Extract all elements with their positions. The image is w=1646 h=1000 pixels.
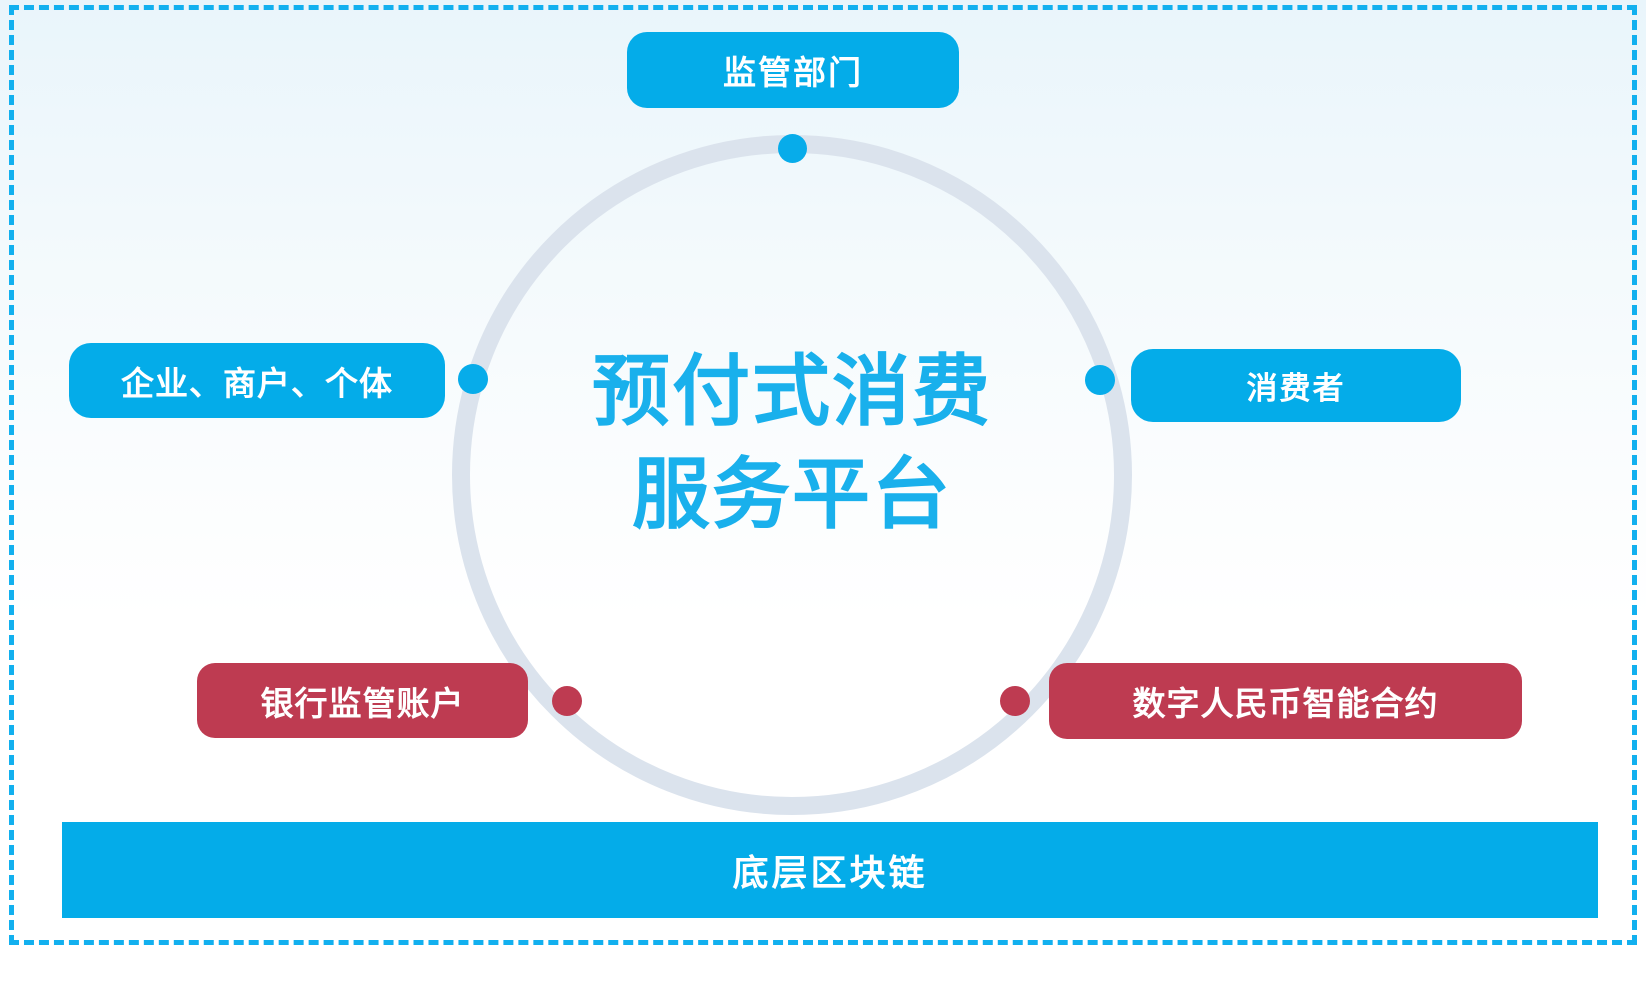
connector-dot-right	[1085, 365, 1115, 395]
connector-dot-left	[458, 364, 488, 394]
foundation-blockchain-bar[interactable]: 底层区块链	[62, 822, 1598, 918]
foundation-blockchain-label: 底层区块链	[732, 844, 927, 896]
node-digital-rmb-smart-contract[interactable]: 数字人民币智能合约	[1049, 663, 1522, 739]
node-consumer[interactable]: 消费者	[1131, 349, 1461, 422]
center-title-line-1: 预付式消费	[492, 340, 1092, 443]
node-regulatory-department[interactable]: 监管部门	[627, 32, 959, 108]
connector-dot-top	[778, 134, 807, 163]
connector-dot-bank-account	[552, 686, 582, 716]
node-enterprise-merchant-individual[interactable]: 企业、商户、个体	[69, 343, 445, 418]
connector-dot-smart-contract	[1000, 686, 1030, 716]
diagram-canvas: 预付式消费 服务平台 监管部门 企业、商户、个体 消费者 银行监管账户 数字人民…	[0, 0, 1646, 1000]
node-bank-supervision-account[interactable]: 银行监管账户	[197, 663, 528, 738]
center-title-line-2: 服务平台	[492, 443, 1092, 546]
center-platform-title: 预付式消费 服务平台	[492, 340, 1092, 546]
